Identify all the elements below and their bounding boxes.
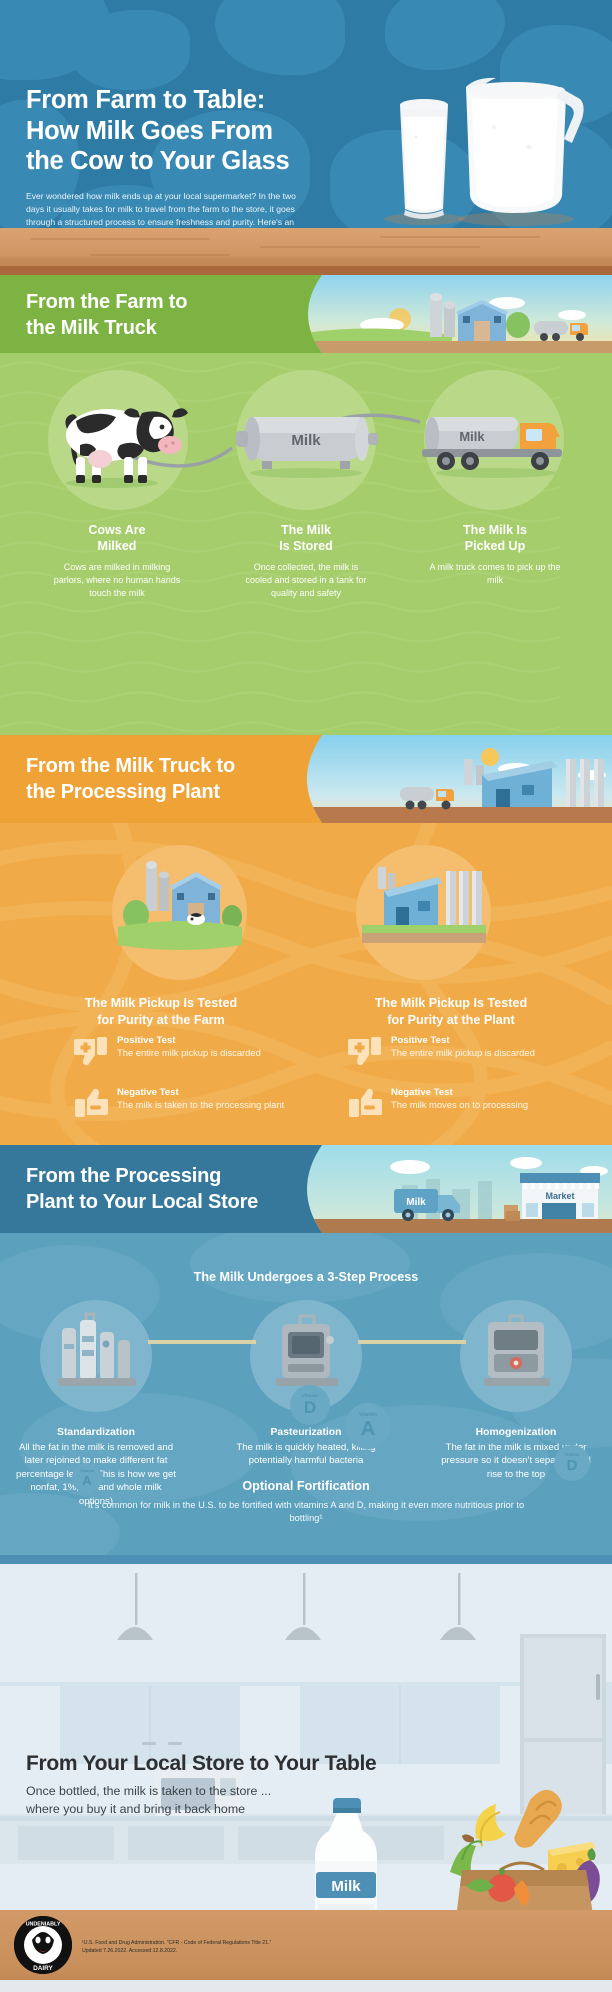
farm-barn-illustration — [118, 853, 242, 973]
farm-step-3-body: A milk truck comes to pick up the milk — [400, 561, 590, 587]
plant-positive-test-label: Positive Test — [391, 1035, 535, 1046]
plant-positive-test-body: The entire milk pickup is discarded — [391, 1047, 535, 1060]
hero-title-line-1: From Farm to Table: — [26, 86, 265, 114]
logo-top-text: UNDENIABLY — [26, 1922, 61, 1928]
plant-positive-test-row: Positive Test The entire milk pickup is … — [348, 1035, 578, 1067]
fortification-body: It's common for milk in the U.S. to be f… — [0, 1499, 612, 1526]
thumbs-up-minus-icon — [348, 1087, 382, 1119]
tank-label: Milk — [291, 432, 321, 449]
farm-section-title: From the Farm to the Milk Truck — [26, 289, 187, 341]
store-to-table-section: From Your Local Store to Your Table Once… — [0, 1555, 612, 1992]
hero-title: From Farm to Table: How Milk Goes From t… — [26, 85, 356, 177]
farm-title-line-1: From the Farm to — [26, 291, 187, 313]
thumbs-down-plus-icon — [348, 1035, 382, 1067]
hero-section: From Farm to Table: How Milk Goes From t… — [0, 0, 612, 275]
store-title-line-2: Plant to Your Local Store — [26, 1191, 258, 1213]
truck-to-plant-section: From the Milk Truck to the Processing Pl… — [0, 735, 612, 1145]
farm-step-2-body: Once collected, the milk is cooled and s… — [211, 561, 401, 600]
milk-storage-tank-illustration: Milk — [228, 403, 384, 479]
farm-negative-test-row: Negative Test The milk is taken to the p… — [74, 1087, 299, 1119]
thumbs-down-plus-icon — [74, 1035, 108, 1067]
process-heading: The Milk Undergoes a 3-Step Process — [0, 1270, 612, 1284]
truck-tank-label: Milk — [459, 429, 485, 444]
farm-negative-test-body: The milk is taken to the processing plan… — [117, 1099, 284, 1112]
hero-title-line-2: How Milk Goes From — [26, 117, 273, 145]
farm-step-3: The Milk Is Picked Up A milk truck comes… — [400, 523, 590, 587]
store-title-line-1: From the Processing — [26, 1165, 221, 1187]
store-truck-label: Milk — [406, 1197, 426, 1208]
farm-scene-illustration — [282, 275, 612, 353]
farm-section-banner: From the Farm to the Milk Truck — [0, 275, 612, 353]
plant-test-title: The Milk Pickup Is Tested for Purity at … — [306, 995, 596, 1029]
footnote-line-2: Updated 7.26.2022. Accessed 12.8.2022. — [82, 1948, 177, 1954]
plant-negative-test-row: Negative Test The milk moves on to proce… — [348, 1087, 578, 1119]
process-step-3-title: Homogenization — [434, 1427, 598, 1438]
market-sign-label: Market — [545, 1191, 574, 1201]
cow-illustration — [46, 387, 190, 491]
homogenization-machine-illustration — [474, 1310, 560, 1396]
vitamin-badge-a-large: Vitamin A — [345, 1403, 391, 1449]
farm-step-1-body: Cows are milked in milking parlors, wher… — [22, 561, 212, 600]
kitchen-title: From Your Local Store to Your Table — [26, 1752, 376, 1776]
store-scene-illustration: Milk Market — [282, 1145, 612, 1233]
processing-plant-illustration — [362, 853, 486, 973]
fortification-title: Optional Fortification — [0, 1479, 612, 1493]
process-step-1-title: Standardization — [14, 1427, 178, 1438]
farm-step-1: Cows Are Milked Cows are milked in milki… — [22, 523, 212, 600]
plant-to-store-section: Milk Market — [0, 1145, 612, 1555]
farm-positive-test-label: Positive Test — [117, 1035, 261, 1046]
farm-positive-test-body: The entire milk pickup is discarded — [117, 1047, 261, 1060]
footnote: ¹U.S. Food and Drug Administration. "CFR… — [82, 1940, 271, 1956]
kitchen-subtitle: Once bottled, the milk is taken to the s… — [26, 1783, 271, 1818]
undeniably-dairy-logo: UNDENIABLY DAIRY — [14, 1916, 72, 1974]
store-section-title: From the Processing Plant to Your Local … — [26, 1163, 258, 1215]
plant-title-line-1: From the Milk Truck to — [26, 755, 235, 777]
plant-section-banner: From the Milk Truck to the Processing Pl… — [0, 735, 612, 823]
plant-section-title: From the Milk Truck to the Processing Pl… — [26, 753, 235, 805]
plant-scene-illustration — [282, 735, 612, 823]
standardization-machine-illustration — [52, 1310, 142, 1396]
farm-test-title: The Milk Pickup Is Tested for Purity at … — [16, 995, 306, 1029]
logo-bottom-text: DAIRY — [33, 1965, 53, 1972]
farm-step-2-title: The Milk Is Stored — [211, 523, 401, 554]
farm-title-line-2: the Milk Truck — [26, 317, 157, 339]
thumbs-up-minus-icon — [74, 1087, 108, 1119]
jug-label: Milk — [331, 1878, 361, 1895]
wood-counter — [0, 228, 612, 275]
plant-negative-test-body: The milk moves on to processing — [391, 1099, 528, 1112]
milk-pitcher-and-glass-illustration — [354, 47, 584, 227]
kitchen-top-strip — [0, 1555, 612, 1564]
pasteurization-machine-illustration — [264, 1310, 350, 1396]
farm-step-1-title: Cows Are Milked — [22, 523, 212, 554]
infographic-page: From Farm to Table: How Milk Goes From t… — [0, 0, 612, 1992]
farm-step-2: The Milk Is Stored Once collected, the m… — [211, 523, 401, 600]
plant-negative-test-label: Negative Test — [391, 1087, 528, 1098]
milk-truck-illustration: Milk — [416, 401, 576, 481]
store-section-banner: Milk Market — [0, 1145, 612, 1233]
vitamin-badge-d-small-right: Vitamin D — [554, 1445, 590, 1481]
farm-step-3-title: The Milk Is Picked Up — [400, 523, 590, 554]
farm-to-truck-section: From the Farm to the Milk Truck — [0, 275, 612, 735]
vitamin-badge-d-small: Vitamin D — [290, 1385, 330, 1425]
farm-negative-test-label: Negative Test — [117, 1087, 284, 1098]
farm-positive-test-row: Positive Test The entire milk pickup is … — [74, 1035, 299, 1067]
plant-title-line-2: the Processing Plant — [26, 781, 220, 803]
hero-title-line-3: the Cow to Your Glass — [26, 147, 289, 175]
footnote-line-1: ¹U.S. Food and Drug Administration. "CFR… — [82, 1940, 271, 1946]
